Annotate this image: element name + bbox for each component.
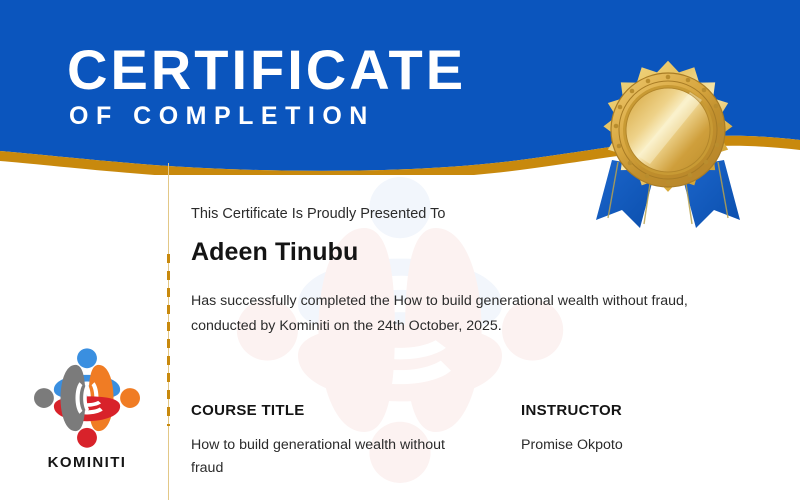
certificate-subtitle: OF COMPLETION <box>69 104 375 129</box>
brand-name: KOMINITI <box>22 455 152 470</box>
certificate-title: CERTIFICATE <box>67 42 466 98</box>
header-text-block: CERTIFICATE OF COMPLETION <box>0 0 800 150</box>
vertical-dashed-divider <box>167 254 170 426</box>
kominiti-people-circle-logo <box>34 348 140 448</box>
course-title-value: How to build generational wealth without… <box>191 434 481 479</box>
certificate-document: CERTIFICATE OF COMPLETION <box>0 0 800 500</box>
recipient-name: Adeen Tinubu <box>191 237 751 267</box>
instructor-value: Promise Okpoto <box>521 434 751 457</box>
certificate-body: This Certificate Is Proudly Presented To… <box>191 206 751 338</box>
brand-block: KOMINITI <box>22 348 152 470</box>
instructor-heading: INSTRUCTOR <box>521 402 751 420</box>
instructor-column: INSTRUCTOR Promise Okpoto <box>521 402 751 479</box>
course-title-column: COURSE TITLE How to build generational w… <box>191 402 521 479</box>
completion-statement: Has successfully completed the How to bu… <box>191 289 727 338</box>
certificate-meta: COURSE TITLE How to build generational w… <box>191 402 751 479</box>
course-title-heading: COURSE TITLE <box>191 402 521 420</box>
presented-to-label: This Certificate Is Proudly Presented To <box>191 206 751 223</box>
